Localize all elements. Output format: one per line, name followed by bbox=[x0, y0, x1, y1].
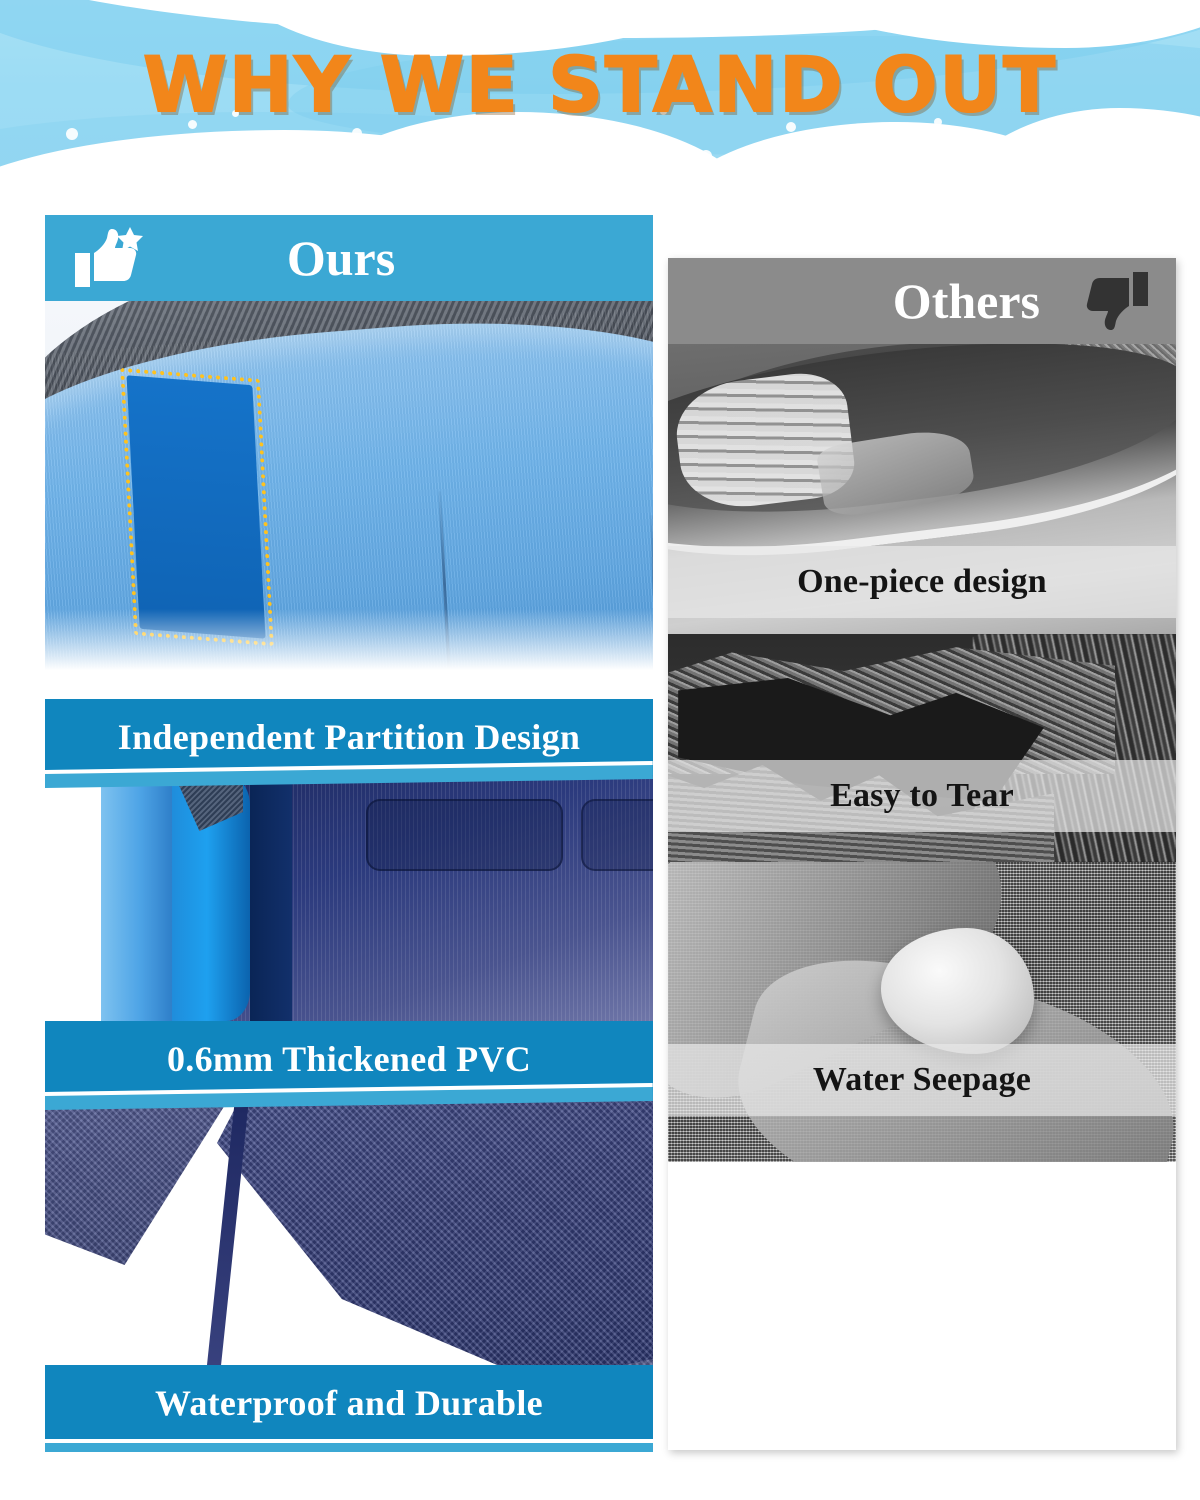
bubble-icon bbox=[96, 150, 104, 158]
grayscale-one-piece-pool-photo: One-piece design bbox=[668, 344, 1176, 634]
bubble-icon bbox=[540, 140, 551, 151]
thumbs-down-icon bbox=[1076, 270, 1150, 332]
bubble-icon bbox=[1074, 130, 1084, 140]
ours-caption-3: Waterproof and Durable bbox=[45, 1365, 653, 1441]
bubble-icon bbox=[414, 148, 427, 161]
fabric-fold-left bbox=[45, 1097, 235, 1265]
pool-wall-partition-photo bbox=[45, 301, 653, 699]
infographic-page: WHY WE STAND OUT Ours Independent Partit bbox=[0, 0, 1200, 1500]
bubble-icon bbox=[1006, 152, 1017, 163]
bubble-icon bbox=[66, 128, 78, 140]
others-label: Others bbox=[893, 276, 1076, 326]
grayscale-wet-mesh-fabric-photo: Water Seepage bbox=[668, 862, 1176, 1162]
fabric-main-sheet bbox=[217, 1097, 653, 1365]
others-caption-2: Easy to Tear bbox=[668, 760, 1176, 832]
bubble-icon bbox=[30, 166, 39, 175]
page-title: WHY WE STAND OUT bbox=[0, 40, 1200, 129]
others-caption-1-text: One-piece design bbox=[797, 563, 1047, 601]
ours-caption-1-text: Independent Partition Design bbox=[118, 716, 580, 758]
photo-white-edge bbox=[45, 775, 101, 1021]
others-caption-3-text: Water Seepage bbox=[813, 1061, 1031, 1099]
header-banner: WHY WE STAND OUT bbox=[0, 0, 1200, 196]
dotted-highlight-outline bbox=[120, 368, 274, 647]
photo-floor-fade bbox=[45, 609, 653, 699]
bubble-icon bbox=[1136, 148, 1149, 161]
interior-panel bbox=[581, 799, 653, 871]
others-caption-2-text: Easy to Tear bbox=[830, 777, 1014, 815]
bubble-icon bbox=[352, 128, 362, 138]
bubble-icon bbox=[262, 154, 273, 165]
interior-panel bbox=[366, 799, 563, 871]
ours-column-header: Ours bbox=[45, 215, 653, 301]
bubble-icon bbox=[140, 142, 154, 156]
caption-slant-accent bbox=[45, 1439, 653, 1452]
thumbs-up-star-icon bbox=[73, 227, 147, 289]
pool-wall-outer bbox=[100, 775, 172, 1021]
others-caption-1: One-piece design bbox=[668, 546, 1176, 618]
bubble-icon bbox=[700, 150, 712, 162]
grayscale-torn-material-photo: Easy to Tear bbox=[668, 634, 1176, 862]
ours-label: Ours bbox=[147, 233, 625, 283]
ours-caption-2-text: 0.6mm Thickened PVC bbox=[167, 1038, 531, 1080]
wall-shadow bbox=[250, 775, 292, 1021]
others-caption-3: Water Seepage bbox=[668, 1044, 1176, 1116]
ours-caption-1: Independent Partition Design bbox=[45, 699, 653, 775]
others-column-header: Others bbox=[668, 258, 1176, 344]
bubble-icon bbox=[858, 146, 872, 160]
navy-pvc-fabric-photo bbox=[45, 1097, 653, 1365]
ours-caption-2: 0.6mm Thickened PVC bbox=[45, 1021, 653, 1097]
ours-caption-3-text: Waterproof and Durable bbox=[155, 1382, 543, 1424]
others-column: Others One-piece design Easy bbox=[668, 258, 1176, 1450]
ours-column: Ours Independent Partition Design bbox=[45, 215, 653, 1500]
pool-interior-thickness-photo bbox=[45, 775, 653, 1021]
surf-base bbox=[0, 170, 1200, 196]
